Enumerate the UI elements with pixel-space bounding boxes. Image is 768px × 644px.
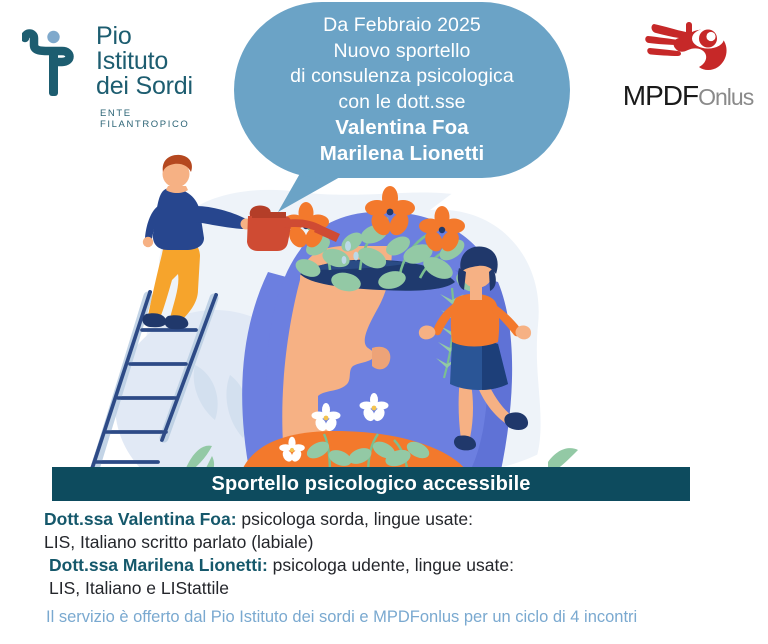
info-row-2: LIS, Italiano scritto parlato (labiale) xyxy=(44,531,744,554)
pio-logo-subtitle: ENTE FILANTROPICO xyxy=(100,108,223,130)
mpdf-hand-eye-icon xyxy=(642,12,734,72)
info-row-3: Dott.ssa Marilena Lionetti: psicologa ud… xyxy=(44,554,744,577)
bubble-line-3: di consulenza psicologica xyxy=(290,64,514,90)
bubble-line-1: Da Febbraio 2025 xyxy=(323,13,481,39)
info-row-3-rest: psicologa udente, lingue usate: xyxy=(268,555,514,575)
psychologists-info: Dott.ssa Valentina Foa: psicologa sorda,… xyxy=(44,508,744,600)
pio-logo-line2: Istituto xyxy=(96,49,224,74)
bubble-line-4: con le dott.sse xyxy=(338,90,465,116)
section-title-bar: Sportello psicologico accessibile xyxy=(52,467,690,501)
pio-logo-line1: Pio xyxy=(96,24,224,49)
mpdf-onlus-logo: MPDFOnlus xyxy=(620,12,756,112)
mpdf-wordmark: MPDFOnlus xyxy=(620,82,756,111)
mpdf-word-gray: Onlus xyxy=(698,84,753,110)
info-row-4: LIS, Italiano e LIStattile xyxy=(44,577,744,600)
illustration-svg xyxy=(0,150,768,475)
info-row-1: Dott.ssa Valentina Foa: psicologa sorda,… xyxy=(44,508,744,531)
footer-note: Il servizio è offerto dal Pio Istituto d… xyxy=(46,606,758,628)
bubble-name-2: Marilena Lionetti xyxy=(320,141,485,167)
pio-istituto-wordmark: Pio Istituto dei Sordi xyxy=(96,24,224,99)
mpdf-word-dark: MPDF xyxy=(623,80,698,111)
info-row-1-rest: psicologa sorda, lingue usate: xyxy=(237,509,473,529)
bubble-line-2: Nuovo sportello xyxy=(334,39,471,65)
poster: Pio Istituto dei Sordi ENTE FILANTROPICO… xyxy=(0,0,768,644)
info-row-3-name: Dott.ssa Marilena Lionetti: xyxy=(49,555,268,575)
pio-istituto-mark-icon xyxy=(22,28,84,98)
pio-istituto-logo: Pio Istituto dei Sordi ENTE FILANTROPICO xyxy=(18,22,223,122)
section-title-label: Sportello psicologico accessibile xyxy=(212,473,531,496)
bubble-name-1: Valentina Foa xyxy=(335,115,468,141)
pio-logo-line3: dei Sordi xyxy=(96,74,224,99)
speech-bubble: Da Febbraio 2025 Nuovo sportello di cons… xyxy=(234,2,570,178)
woman-head-with-flowers-illustration xyxy=(0,150,768,475)
info-row-2-rest: LIS, Italiano scritto parlato (labiale) xyxy=(44,532,313,552)
info-row-4-rest: LIS, Italiano e LIStattile xyxy=(49,578,229,598)
info-row-1-name: Dott.ssa Valentina Foa: xyxy=(44,509,237,529)
